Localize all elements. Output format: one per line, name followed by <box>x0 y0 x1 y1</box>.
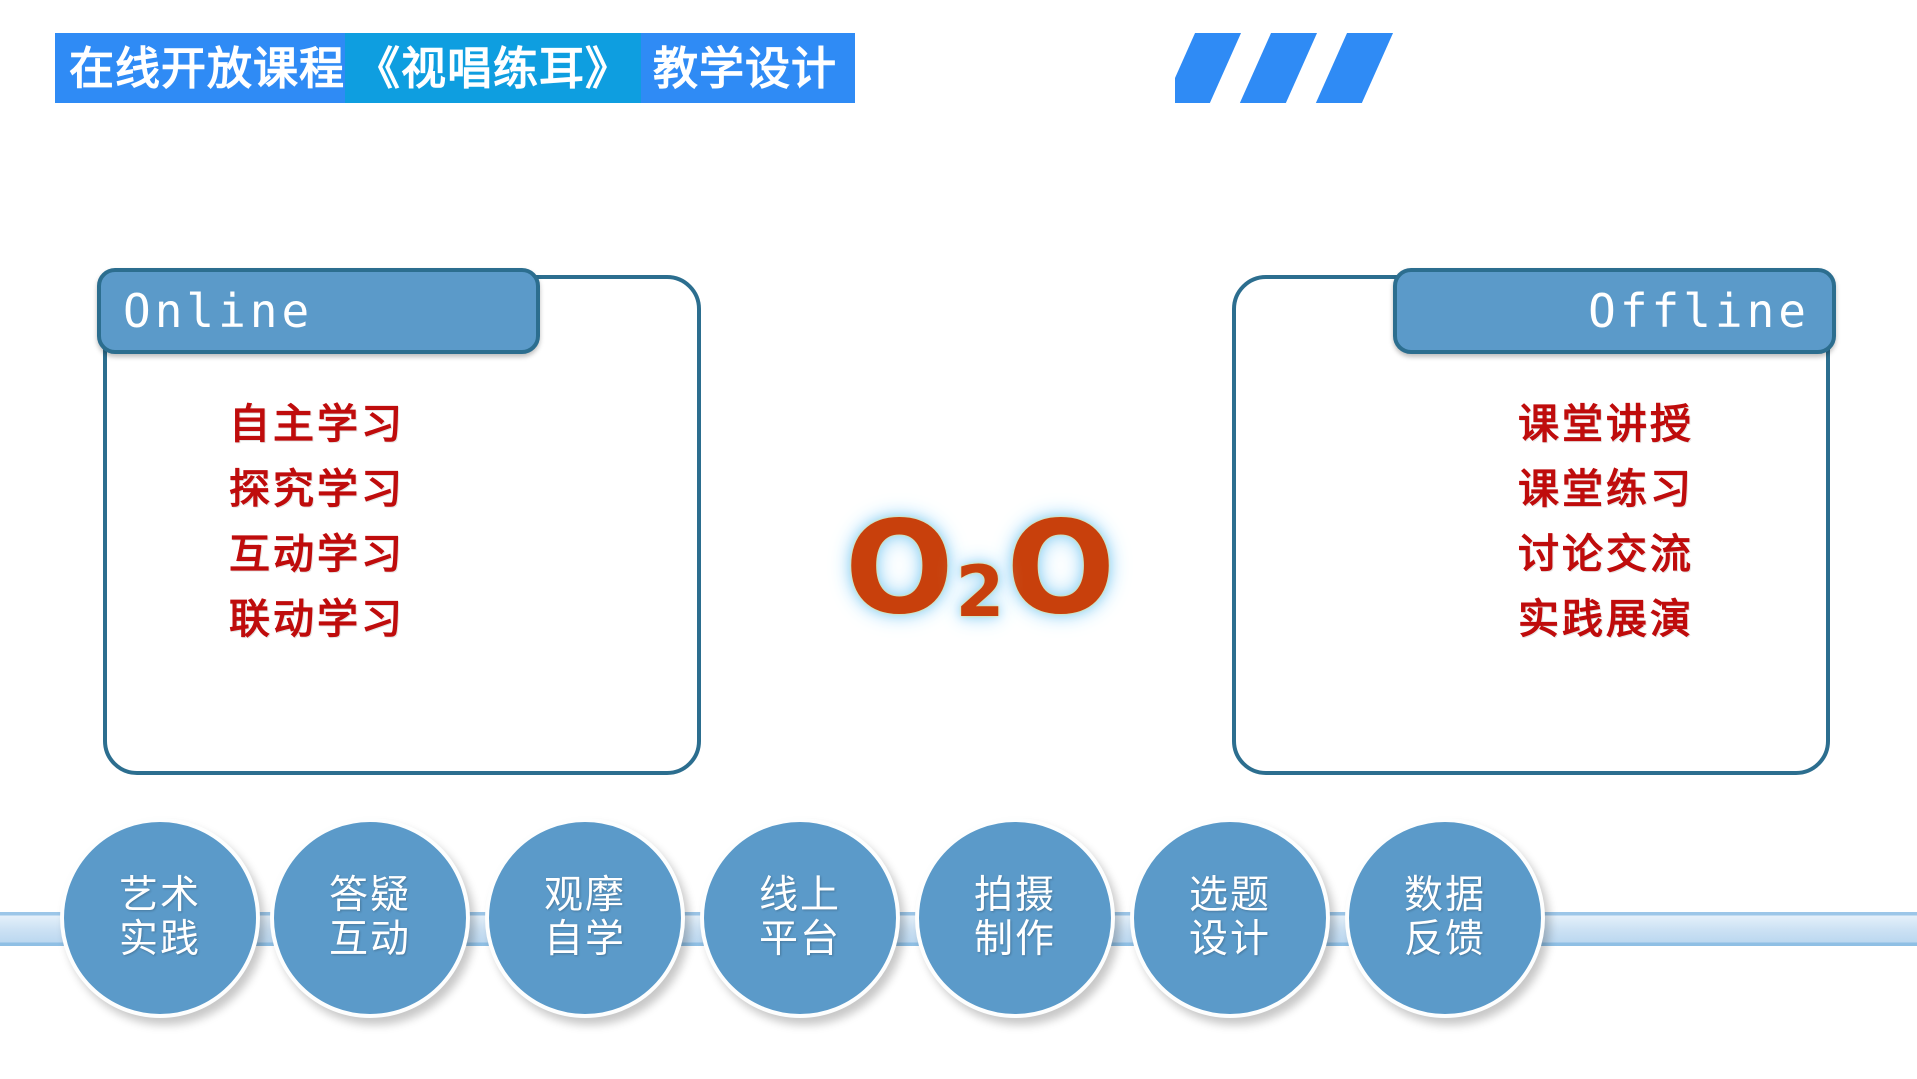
o2o-digit-two: 2 <box>956 557 1005 627</box>
online-item-4: 联动学习 <box>229 596 405 643</box>
process-node-line1: 观摩 <box>544 874 626 918</box>
process-node-line2: 平台 <box>759 918 841 962</box>
online-item-1: 自主学习 <box>229 401 405 448</box>
process-node-line1: 拍摄 <box>974 874 1056 918</box>
process-node-shooting-production[interactable]: 拍摄 制作 <box>915 818 1115 1018</box>
offline-panel: Offline 课堂讲授 课堂练习 讨论交流 实践展演 <box>1232 275 1830 775</box>
title-segment-course: 在线开放课程 <box>55 33 345 103</box>
process-node-line1: 数据 <box>1404 874 1486 918</box>
process-node-observation-selfstudy[interactable]: 观摩 自学 <box>485 818 685 1018</box>
offline-panel-item-list: 课堂讲授 课堂练习 讨论交流 实践展演 <box>1236 401 1826 644</box>
online-item-2: 探究学习 <box>229 466 405 513</box>
offline-panel-tab-label: Offline <box>1588 284 1810 338</box>
process-node-line1: 线上 <box>759 874 841 918</box>
process-node-line2: 设计 <box>1189 918 1271 962</box>
process-node-line2: 实践 <box>119 918 201 962</box>
slide-title-bar: 在线开放课程 《视唱练耳》 教学设计 <box>55 33 855 103</box>
process-node-line1: 艺术 <box>119 874 201 918</box>
process-node-line2: 互动 <box>329 918 411 962</box>
offline-item-4: 实践展演 <box>1518 596 1694 643</box>
stripe-1 <box>1175 33 1245 103</box>
process-node-online-platform[interactable]: 线上 平台 <box>700 818 900 1018</box>
online-panel-tab-label: Online <box>123 284 313 338</box>
process-node-line1: 答疑 <box>329 874 411 918</box>
slide-canvas: 在线开放课程 《视唱练耳》 教学设计 Online 自主学习 探究学习 互动学习… <box>0 0 1917 1079</box>
offline-item-1: 课堂讲授 <box>1518 401 1694 448</box>
process-node-qa-interaction[interactable]: 答疑 互动 <box>270 818 470 1018</box>
process-node-line2: 自学 <box>544 918 626 962</box>
process-node-topic-design[interactable]: 选题 设计 <box>1130 818 1330 1018</box>
process-node-data-feedback[interactable]: 数据 反馈 <box>1345 818 1545 1018</box>
process-node-line2: 反馈 <box>1404 918 1486 962</box>
process-chain-nodes: 艺术 实践 答疑 互动 观摩 自学 线上 平台 拍摄 制作 选题 设计 数据 反… <box>0 818 1917 1042</box>
process-node-line2: 制作 <box>974 918 1056 962</box>
title-segment-design: 教学设计 <box>641 33 855 103</box>
stripe-2 <box>1235 33 1322 103</box>
o2o-letter-left: O <box>845 505 954 633</box>
o2o-logo: O 2 O <box>830 505 1130 635</box>
title-diagonal-stripes-decoration <box>1175 33 1405 103</box>
offline-item-3: 讨论交流 <box>1518 531 1694 578</box>
process-node-artistic-practice[interactable]: 艺术 实践 <box>60 818 260 1018</box>
offline-panel-tab: Offline <box>1393 268 1836 354</box>
online-panel-tab: Online <box>97 268 540 354</box>
offline-item-2: 课堂练习 <box>1518 466 1694 513</box>
title-segment-subject: 《视唱练耳》 <box>345 33 641 103</box>
o2o-letter-right: O <box>1006 505 1115 633</box>
online-panel: Online 自主学习 探究学习 互动学习 联动学习 <box>103 275 701 775</box>
stripe-3 <box>1311 33 1398 103</box>
online-item-3: 互动学习 <box>229 531 405 578</box>
process-node-line1: 选题 <box>1189 874 1271 918</box>
online-panel-item-list: 自主学习 探究学习 互动学习 联动学习 <box>107 401 697 644</box>
